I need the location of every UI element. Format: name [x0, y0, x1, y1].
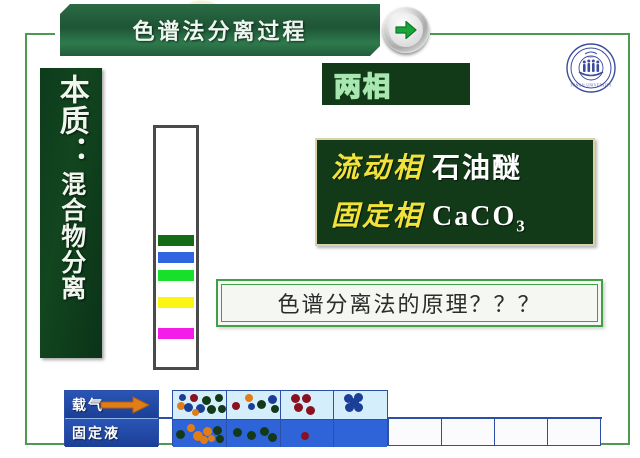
- empty-tube-cell: [548, 419, 600, 445]
- tube-cell-liquid: [227, 419, 281, 447]
- tube-cell-liquid: [334, 419, 387, 447]
- essence-heading: 本质：: [55, 74, 87, 167]
- particle-dot: [202, 396, 211, 405]
- yellow-band: [158, 297, 194, 308]
- tongji-university-logo: 1907 TONGJI UNIVERSITY: [565, 42, 617, 94]
- separation-tube: [172, 390, 388, 446]
- particle-dot: [257, 400, 266, 409]
- tube-cell-gas: [281, 391, 335, 419]
- slide-root: 色谱法分离过程: [0, 0, 640, 458]
- particle-dot: [248, 403, 255, 410]
- mobile-phase-row: 流动相 石油醚: [331, 146, 593, 194]
- next-slide-button[interactable]: [383, 7, 429, 53]
- particle-dot: [260, 427, 269, 436]
- particle-dot: [268, 395, 277, 404]
- particle-dot: [187, 424, 195, 432]
- particle-dot: [301, 432, 309, 440]
- legend-stationary-liquid: 固定液: [65, 419, 158, 447]
- particle-dot: [215, 394, 223, 402]
- particle-dot: [268, 433, 277, 442]
- empty-tube-cell: [495, 419, 548, 445]
- particle-dot: [207, 405, 216, 414]
- legend-carrier-gas: 载气: [65, 391, 158, 419]
- two-phase-box: 两相: [322, 63, 470, 105]
- particle-dot: [271, 405, 279, 413]
- question-box: 色谱分离法的原理？？？: [216, 279, 603, 327]
- stationary-phase-value: CaCO3: [432, 201, 525, 237]
- diagram-legend: 载气 固定液: [64, 390, 159, 446]
- mobile-phase-label: 流动相: [331, 146, 424, 186]
- phase-info-box: 流动相 石油醚 固定相 CaCO3: [315, 138, 595, 246]
- empty-tube-cell: [389, 419, 442, 445]
- arrow-right-icon: [395, 20, 417, 40]
- particle-dot: [245, 394, 253, 402]
- particle-dot: [213, 426, 222, 435]
- stationary-phase-row: [173, 419, 387, 447]
- mobile-phase-row: [173, 391, 387, 419]
- svg-text:1907: 1907: [588, 55, 595, 59]
- svg-text:TONGJI UNIVERSITY: TONGJI UNIVERSITY: [570, 84, 612, 88]
- essence-panel: 本质： 混合物分离: [40, 68, 102, 358]
- bright-green-band: [158, 270, 194, 281]
- particle-dot: [294, 403, 303, 412]
- particle-dot: [179, 394, 186, 401]
- blue-band: [158, 252, 194, 263]
- particle-dot: [232, 402, 240, 410]
- empty-tube-cells: [388, 418, 601, 446]
- particle-dot: [200, 436, 208, 444]
- stationary-phase-row: 固定相 CaCO3: [331, 194, 593, 242]
- particle-dot: [233, 428, 242, 437]
- stationary-phase-subscript: 3: [516, 217, 525, 236]
- chromatography-column: [153, 125, 199, 370]
- particle-dot: [247, 431, 256, 440]
- particle-dot: [216, 435, 224, 443]
- particle-dot: [306, 406, 315, 415]
- dark-green-band: [158, 235, 194, 246]
- slide-title-banner: 色谱法分离过程: [60, 4, 380, 56]
- particle-dot: [218, 405, 226, 413]
- tube-cell-liquid: [281, 419, 335, 447]
- particle-dot: [208, 435, 215, 442]
- two-phase-label: 两相: [334, 65, 392, 104]
- particle-dot: [291, 394, 300, 403]
- essence-body: 混合物分离: [57, 171, 85, 301]
- legend-stationary-liquid-label: 固定液: [72, 423, 120, 443]
- particle-dot: [302, 394, 311, 403]
- tube-cell-gas: [173, 391, 227, 419]
- magenta-band: [158, 328, 194, 339]
- particle-dot: [192, 409, 199, 416]
- stationary-phase-label: 固定相: [331, 194, 424, 234]
- particle-dot: [176, 430, 185, 439]
- tube-cell-liquid: [173, 419, 227, 447]
- arrow-right-icon: [99, 395, 151, 420]
- particle-dot: [190, 394, 198, 402]
- question-text: 色谱分离法的原理？？？: [277, 287, 541, 319]
- page-title: 色谱法分离过程: [132, 14, 307, 46]
- stationary-phase-formula: CaCO: [432, 201, 516, 232]
- empty-tube-cell: [442, 419, 495, 445]
- tube-cell-gas: [334, 391, 387, 419]
- tube-cell-gas: [227, 391, 281, 419]
- next-button-inner: [389, 13, 423, 47]
- mobile-phase-value: 石油醚: [432, 146, 522, 186]
